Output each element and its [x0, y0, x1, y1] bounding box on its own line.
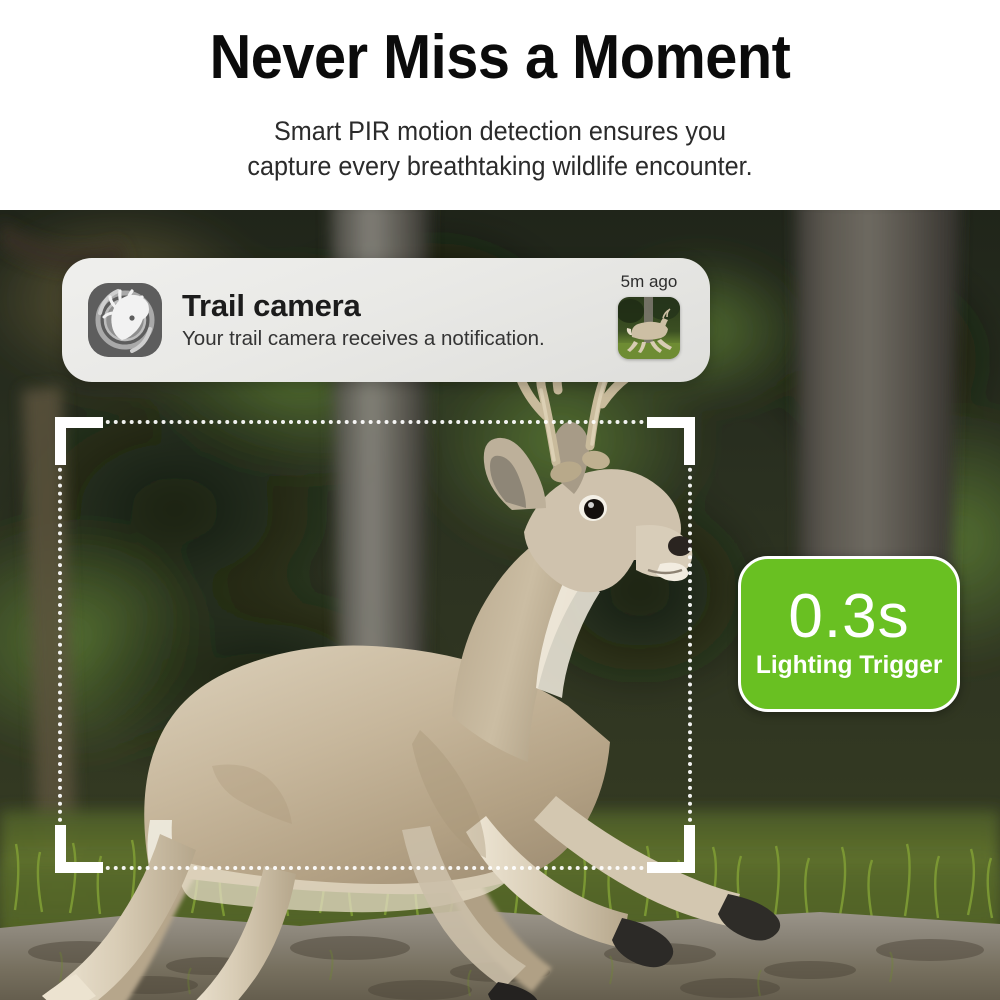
deer-head-icon — [88, 283, 162, 357]
promo-banner: Never Miss a Moment Smart PIR motion det… — [0, 0, 1000, 1000]
subtitle-line-1: Smart PIR motion detection ensures you — [25, 114, 975, 149]
deer-head-icon-artwork — [88, 283, 162, 357]
notification-meta: 5m ago — [610, 258, 688, 359]
subtitle-line-2: capture every breathtaking wildlife enco… — [25, 149, 975, 184]
page-title: Never Miss a Moment — [35, 24, 965, 92]
notification-body: Your trail camera receives a notificatio… — [182, 325, 610, 353]
trigger-speed-badge: 0.3s Lighting Trigger — [738, 556, 960, 712]
notification-thumbnail[interactable] — [618, 297, 680, 359]
notification-timestamp: 5m ago — [621, 272, 678, 292]
trigger-speed-value: 0.3s — [788, 585, 909, 649]
notification-text: Trail camera Your trail camera receives … — [162, 288, 610, 353]
thumbnail-artwork — [618, 297, 680, 359]
notification-card[interactable]: Trail camera Your trail camera receives … — [62, 258, 710, 382]
header-section: Never Miss a Moment Smart PIR motion det… — [0, 0, 1000, 210]
notification-title: Trail camera — [182, 288, 610, 324]
page-subtitle: Smart PIR motion detection ensures you c… — [25, 114, 975, 184]
trigger-speed-label: Lighting Trigger — [756, 651, 942, 679]
